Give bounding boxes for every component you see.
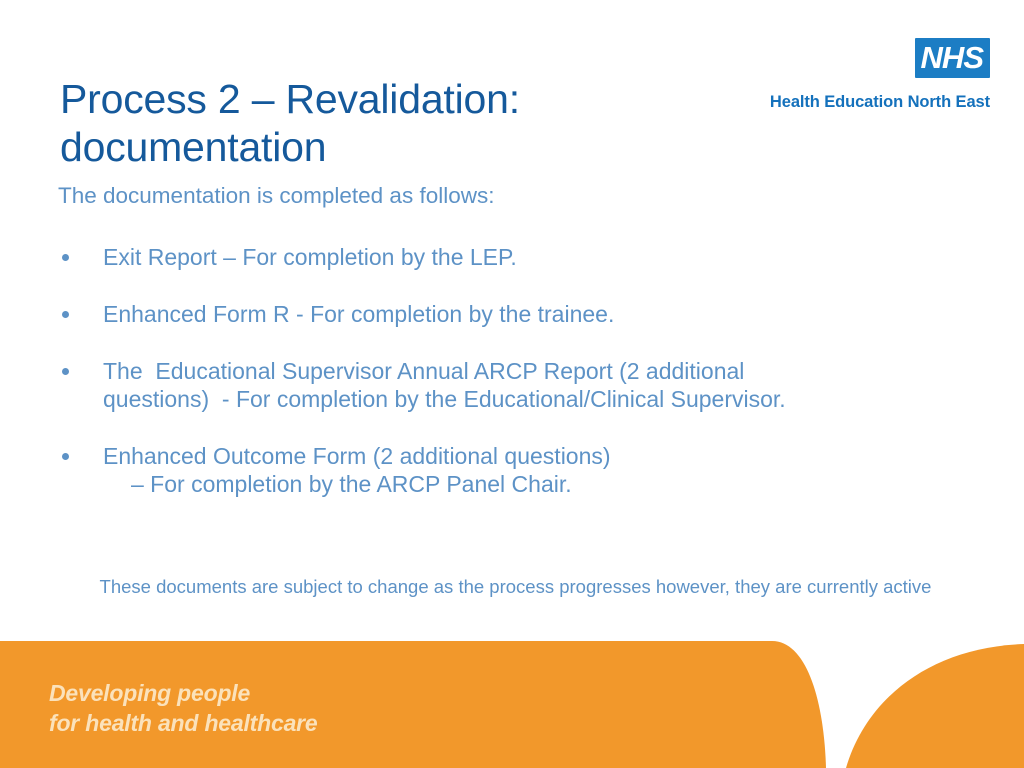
bullet-dot-icon: [62, 311, 69, 318]
list-item: Enhanced Outcome Form (2 additional ques…: [58, 442, 918, 498]
list-item: The Educational Supervisor Annual ARCP R…: [58, 357, 918, 413]
bullet-list: Exit Report – For completion by the LEP.…: [58, 243, 918, 498]
footer-right-lobe: [846, 644, 1024, 768]
footer-band: Developing people for health and healthc…: [0, 641, 1024, 768]
bullet-dot-icon: [62, 368, 69, 375]
slide: NHS Health Education North East Process …: [0, 0, 1024, 768]
footnote-text: These documents are subject to change as…: [58, 574, 973, 599]
bullet-dot-icon: [62, 254, 69, 261]
list-item-text: Enhanced Form R - For completion by the …: [103, 300, 918, 328]
list-item-text: Exit Report – For completion by the LEP.: [103, 243, 918, 271]
list-item-subline: – For completion by the ARCP Panel Chair…: [103, 470, 918, 498]
bullet-dot-icon: [62, 453, 69, 460]
nhs-logo: NHS: [915, 38, 990, 78]
list-item-text: The Educational Supervisor Annual ARCP R…: [103, 357, 843, 413]
list-item: Exit Report – For completion by the LEP.: [58, 243, 918, 271]
nhs-brand-block: NHS Health Education North East: [690, 38, 990, 111]
slide-title: Process 2 – Revalidation: documentation: [60, 75, 680, 171]
footer-tagline: Developing people for health and healthc…: [49, 678, 318, 738]
brand-strapline: Health Education North East: [690, 93, 990, 111]
list-item: Enhanced Form R - For completion by the …: [58, 300, 918, 328]
list-item-text: Enhanced Outcome Form (2 additional ques…: [103, 442, 918, 470]
slide-lead-text: The documentation is completed as follow…: [58, 182, 494, 210]
